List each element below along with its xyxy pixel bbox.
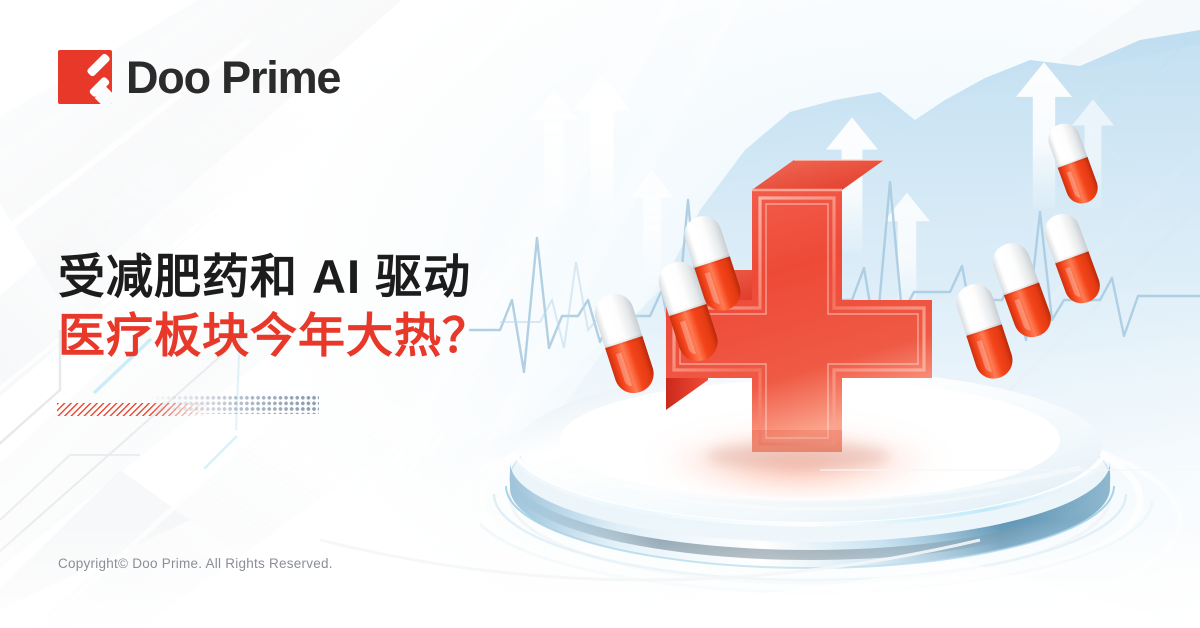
hatch-bar-decoration bbox=[57, 403, 209, 416]
decorative-strip bbox=[57, 394, 319, 420]
banner-root: Doo Prime 受减肥药和 AI 驱动 医疗板块今年大热？ Copyrigh… bbox=[0, 0, 1200, 628]
capsule-icon bbox=[590, 289, 659, 398]
doo-prime-logo-mark-icon bbox=[58, 50, 112, 104]
capsule-group-right bbox=[952, 119, 1105, 383]
brand-logo[interactable]: Doo Prime bbox=[58, 50, 340, 104]
headline: 受减肥药和 AI 驱动 医疗板块今年大热？ bbox=[58, 247, 490, 365]
headline-line-2: 医疗板块今年大热？ bbox=[58, 306, 490, 365]
capsule-icon bbox=[1040, 209, 1105, 308]
copyright-text: Copyright© Doo Prime. All Rights Reserve… bbox=[58, 556, 333, 571]
headline-line-1: 受减肥药和 AI 驱动 bbox=[58, 247, 490, 306]
capsule-icon bbox=[1044, 119, 1102, 208]
brand-name: Doo Prime bbox=[126, 55, 340, 100]
hero-artwork bbox=[480, 0, 1200, 628]
